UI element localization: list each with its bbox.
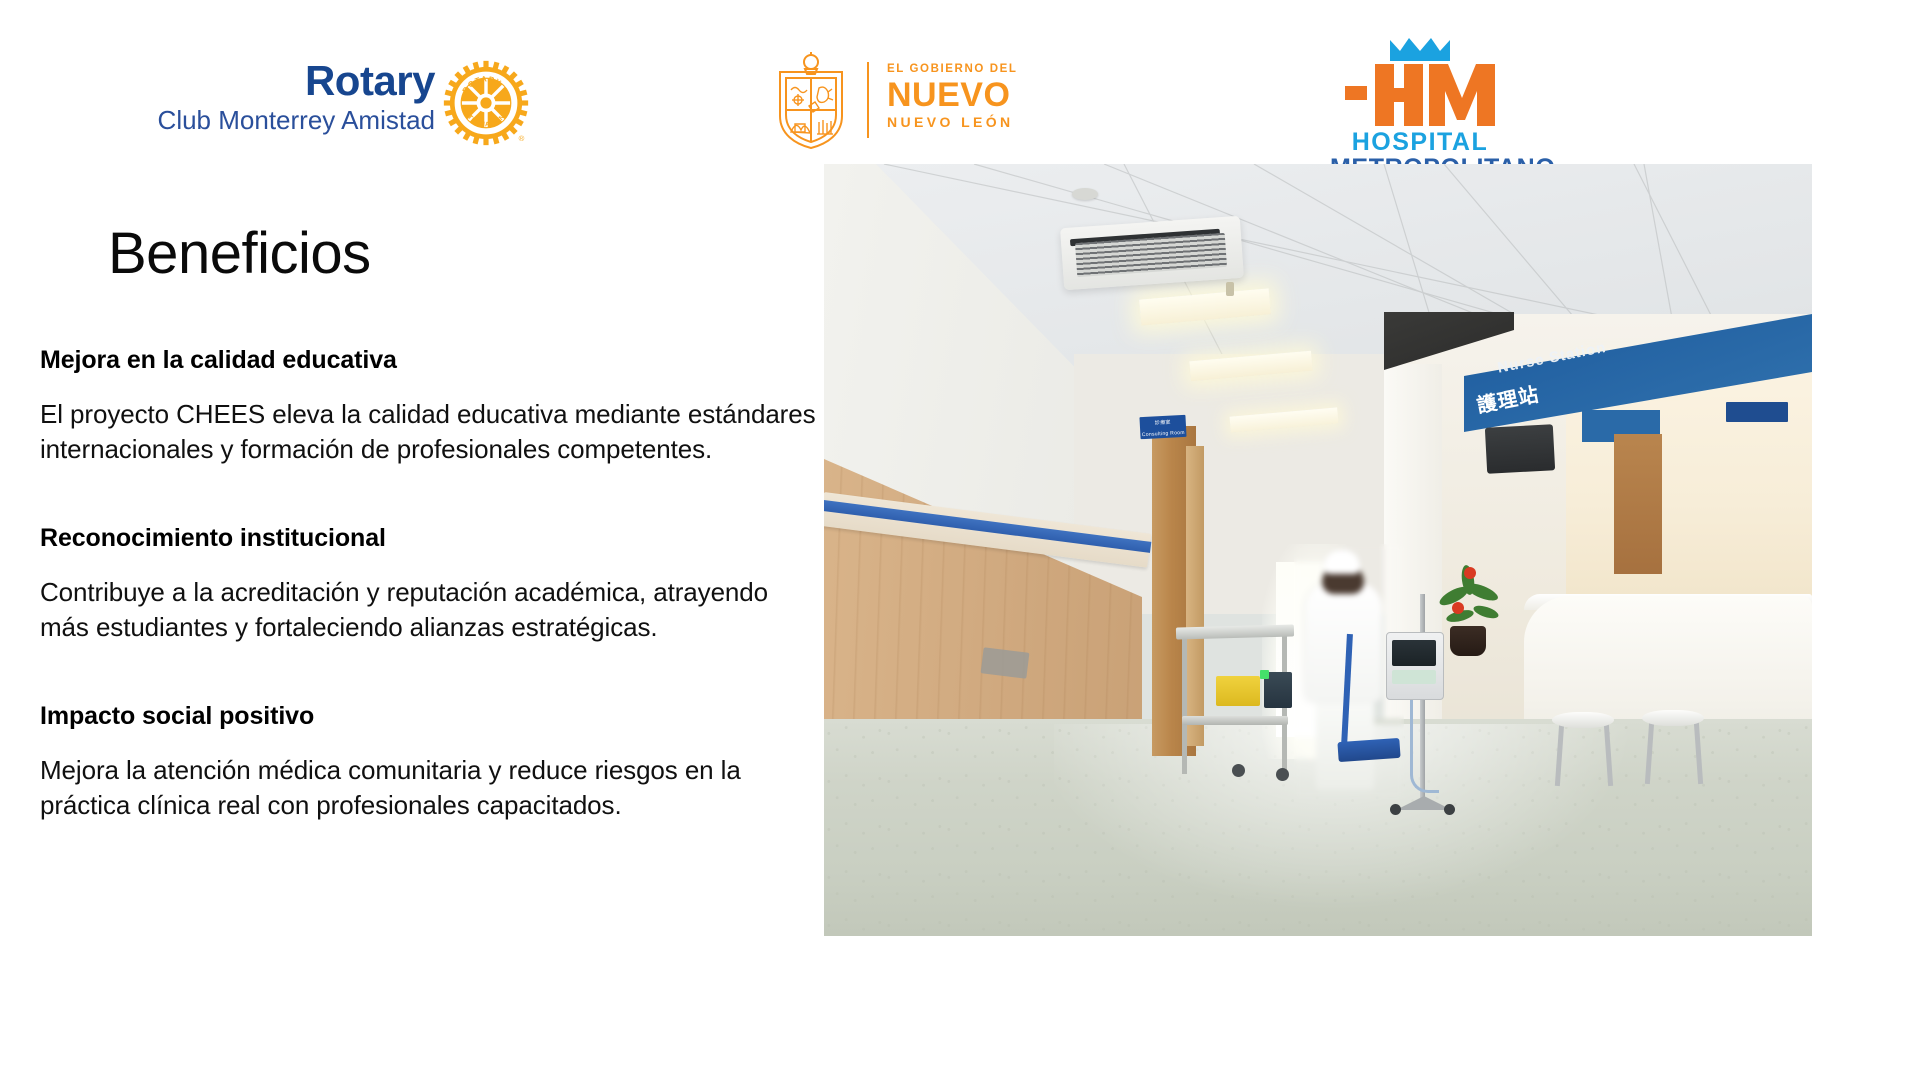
rotary-wordmark: Rotary Club Monterrey Amistad — [95, 58, 435, 136]
photo-cart-indicator-light — [1260, 670, 1269, 679]
benefit-heading: Impacto social positivo — [40, 701, 820, 731]
photo-wall-vent — [981, 647, 1030, 678]
photo-iv-caster — [1444, 804, 1455, 815]
photo-far-wooden-door — [1614, 434, 1662, 574]
benefit-section: Mejora en la calidad educativa El proyec… — [40, 345, 820, 467]
photo-plant-icon — [1434, 564, 1506, 634]
benefit-heading: Reconocimiento institucional — [40, 523, 820, 553]
rotary-club-name-text: Club Monterrey Amistad — [95, 104, 435, 136]
photo-sprinkler-head — [1226, 282, 1234, 296]
nuevo-leon-wordmark: EL GOBIERNO DEL NUEVO NUEVO LEÓN — [887, 62, 1047, 132]
photo-monitor — [1485, 424, 1555, 473]
photo-smoke-detector — [1072, 188, 1098, 200]
hospital-metropolitano-line1: HOSPITAL — [1330, 129, 1510, 155]
consulting-room-sign: 診療室 Consulting Room — [1139, 415, 1186, 439]
benefit-section: Reconocimiento institucional Contribuye … — [40, 523, 820, 645]
consulting-room-sign-cjk: 診療室 — [1140, 419, 1186, 428]
photo-cart-leg — [1182, 634, 1187, 774]
photo-cart-lower-shelf — [1182, 716, 1288, 725]
photo-infusion-pump-screen — [1392, 640, 1436, 666]
photo-far-sign — [1726, 402, 1788, 422]
photo-cart-wheel — [1232, 764, 1245, 777]
photo-plant-pot — [1450, 626, 1486, 656]
photo-iv-caster — [1390, 804, 1401, 815]
hm-monogram-icon — [1345, 64, 1495, 126]
photo-stool-seat — [1642, 710, 1704, 726]
nuevo-leon-government-logo: EL GOBIERNO DEL NUEVO NUEVO LEÓN — [775, 50, 1035, 155]
nuevo-leon-line2: NUEVO — [887, 77, 1047, 113]
nuevo-leon-divider — [867, 62, 869, 138]
crown-icon — [1388, 38, 1452, 62]
rotary-wordmark-text: Rotary — [95, 58, 435, 104]
benefit-section: Impacto social positivo Mejora la atenci… — [40, 701, 820, 823]
photo-cart-wheel — [1276, 768, 1289, 781]
hospital-corridor-photo: 護理站 Nurse Station 診療室 Consulting Room — [824, 164, 1812, 936]
rotary-registered-mark: ® — [519, 134, 525, 143]
photo-infusion-pump-keypad — [1392, 670, 1436, 684]
benefit-heading: Mejora en la calidad educativa — [40, 345, 820, 375]
benefit-body: Mejora la atención médica comunitaria y … — [40, 753, 820, 823]
logo-bar: Rotary Club Monterrey Amistad — [0, 0, 1920, 170]
photo-stool-seat — [1552, 712, 1614, 728]
page-title: Beneficios — [108, 222, 371, 286]
nuevo-leon-line3: NUEVO LEÓN — [887, 113, 1047, 132]
nuevo-leon-line1: EL GOBIERNO DEL — [887, 62, 1047, 77]
photo-wooden-door-panel — [1186, 446, 1204, 746]
photo-cart-yellow-bin — [1216, 676, 1260, 706]
rotary-club-logo: Rotary Club Monterrey Amistad — [95, 58, 535, 150]
nuevo-leon-shield-icon — [775, 50, 847, 150]
benefit-body: El proyecto CHEES eleva la calidad educa… — [40, 397, 820, 467]
benefit-body: Contribuye a la acreditación y reputació… — [40, 575, 820, 645]
hospital-metropolitano-logo: HOSPITAL METROPOLITANO — [1330, 38, 1510, 168]
rotary-wheel-icon: ROTARY INTERNATIONAL ® — [443, 60, 529, 146]
benefits-content: Mejora en la calidad educativa El proyec… — [40, 345, 820, 823]
